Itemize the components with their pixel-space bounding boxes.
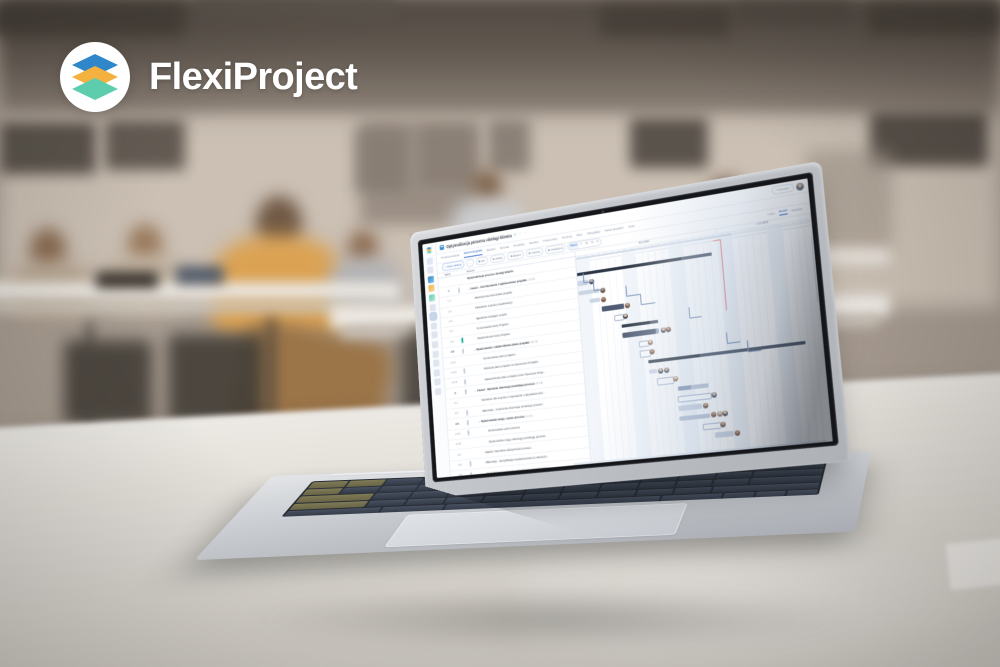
wbs-cell: 1.6.2 xyxy=(444,370,463,375)
status-badge[interactable] xyxy=(463,368,465,374)
wbs-cell: 1.5 xyxy=(442,339,461,345)
assignee-avatar[interactable] xyxy=(666,327,671,333)
app-sidebar xyxy=(422,242,451,478)
ceiling-panel xyxy=(600,6,730,36)
task-progress-count: (1 z 2) xyxy=(526,415,533,419)
filter-button[interactable]: Filtr xyxy=(475,257,488,266)
wbs-cell xyxy=(439,280,458,283)
tab-zasoby[interactable]: Zasoby xyxy=(529,239,539,246)
sidebar-item-favorites[interactable] xyxy=(434,369,440,377)
status-cell[interactable] xyxy=(469,453,477,454)
wbs-cell: 2.3.1 xyxy=(448,432,468,437)
help-button[interactable]: ? Pomoc xyxy=(772,183,794,194)
sidebar-item-team[interactable] xyxy=(434,378,440,386)
assignee-avatar[interactable] xyxy=(723,411,729,417)
gantt-bar[interactable] xyxy=(589,298,600,304)
view-kanban[interactable]: Kanban xyxy=(791,206,803,213)
assignee-avatar[interactable] xyxy=(711,392,717,398)
status-cell[interactable] xyxy=(460,309,468,310)
wbs-cell: 2.4 xyxy=(449,452,469,457)
gantt-bar[interactable] xyxy=(679,413,710,421)
assignee-avatar[interactable] xyxy=(664,367,669,373)
assignee-avatar[interactable] xyxy=(711,412,717,418)
ceiling-panel xyxy=(868,4,1000,34)
project-icon xyxy=(440,244,445,250)
tab-scoring[interactable]: Scoring xyxy=(562,234,572,241)
assignee-avatar[interactable] xyxy=(734,430,740,436)
wall-panel xyxy=(630,118,708,168)
check-icon[interactable]: ✔ xyxy=(514,232,517,236)
status-cell[interactable] xyxy=(462,348,470,353)
sidebar-item-resources[interactable] xyxy=(431,331,437,339)
sidebar-item-reports[interactable] xyxy=(432,341,438,349)
filter-label: Filtr xyxy=(481,259,485,263)
tab-karta-projektu[interactable]: Karta projektu xyxy=(605,225,624,234)
status-cell[interactable] xyxy=(466,410,474,415)
funnel-icon xyxy=(478,260,480,262)
wbs-cell: 1.6.3 xyxy=(445,380,464,385)
sidebar-project-1[interactable] xyxy=(428,276,434,284)
status-cell[interactable] xyxy=(459,299,467,300)
assignee-avatar[interactable] xyxy=(623,313,628,319)
status-cell[interactable] xyxy=(467,420,475,425)
task-progress-count: (1 z 6) xyxy=(536,382,543,386)
clock-icon xyxy=(529,252,531,255)
task-name: Analizy mierników efektywności procesu xyxy=(485,446,531,455)
status-badge[interactable] xyxy=(467,420,469,426)
tab-ryzyka[interactable]: Ryzyka xyxy=(500,244,509,251)
dependency-link xyxy=(640,291,656,305)
gantt-bar[interactable] xyxy=(678,383,709,391)
new-task-button[interactable]: + Nowe zadanie xyxy=(442,260,465,271)
assignee-avatar[interactable] xyxy=(650,349,655,355)
status-badge[interactable] xyxy=(462,348,464,354)
dependency-link xyxy=(625,283,641,297)
task-name: Spotkanie inicjujące projekt xyxy=(476,312,507,320)
assignee-avatar[interactable] xyxy=(703,403,709,409)
task-grid: WBS Nazwa Optymalizacja procesu obsługi … xyxy=(438,252,592,477)
task-progress-count: (0 z 3) xyxy=(531,340,538,344)
plus-icon: + xyxy=(445,266,447,269)
history-label: Historia xyxy=(532,250,541,254)
gear-icon xyxy=(548,249,550,252)
sidebar-item-settings[interactable] xyxy=(435,388,441,396)
column-header-status xyxy=(457,271,465,272)
gantt-chart: Sty 2025Lut 2025 11121314151617181920212… xyxy=(575,213,833,463)
sidebar-item-filter[interactable] xyxy=(431,322,437,330)
wbs-cell: 2.1 xyxy=(446,401,465,406)
tab-podsumowanie[interactable]: Podsumowanie xyxy=(441,252,460,260)
status-badge[interactable] xyxy=(458,287,460,293)
sidebar-item-home[interactable] xyxy=(427,257,433,265)
assignee-avatar[interactable] xyxy=(660,328,665,334)
sidebar-logo-icon[interactable] xyxy=(425,246,433,256)
status-cell[interactable] xyxy=(458,279,466,280)
help-label: Pomoc xyxy=(779,186,789,192)
gantt-bar[interactable] xyxy=(649,369,658,375)
gantt-bar-progress xyxy=(601,304,624,312)
dependency-link xyxy=(593,279,604,291)
task-name: Opracowanie planu projektu xyxy=(483,352,515,360)
status-cell[interactable] xyxy=(461,330,469,331)
assignee-avatar[interactable] xyxy=(717,412,723,418)
brand-logo: FlexiProject xyxy=(60,42,357,112)
sidebar-project-3[interactable] xyxy=(429,294,435,302)
bell-icon[interactable]: ◌ xyxy=(767,189,770,194)
gantt-canvas xyxy=(576,223,833,463)
status-cell[interactable] xyxy=(467,430,475,435)
wbs-cell: 1.6 xyxy=(443,350,462,356)
assignee-avatar[interactable] xyxy=(658,368,663,374)
desk-object xyxy=(176,266,224,284)
tab-przeglądy[interactable]: Przeglądy xyxy=(587,229,601,237)
wbs-cell: 2.5 xyxy=(450,463,470,468)
tab-czat[interactable]: Czat xyxy=(628,223,635,230)
avatar[interactable] xyxy=(796,182,804,191)
sidebar-item-library[interactable] xyxy=(433,359,439,367)
question-mark-icon: ? xyxy=(776,188,778,193)
task-name: Opracowanie Karty Projektu xyxy=(477,322,509,330)
gantt-bar[interactable] xyxy=(601,304,624,312)
wall-panel xyxy=(488,120,530,172)
tab-plan[interactable]: Plan xyxy=(576,232,582,239)
brand-name: FlexiProject xyxy=(149,56,357,99)
assignee-avatar[interactable] xyxy=(625,303,630,309)
download-icon xyxy=(510,255,512,257)
gantt-bar[interactable] xyxy=(714,431,733,438)
dependency-link xyxy=(747,338,761,352)
new-task-dropdown[interactable]: ⌄ xyxy=(466,259,474,267)
export-label: Eksport xyxy=(513,253,521,257)
status-cell[interactable] xyxy=(463,360,471,361)
tab-produkty[interactable]: Produkty xyxy=(513,242,524,249)
paper-sheet xyxy=(946,536,1000,590)
dependency-link xyxy=(688,305,702,318)
gantt-bar[interactable] xyxy=(678,404,702,411)
views-label: Widoki xyxy=(495,256,502,260)
status-badge[interactable] xyxy=(469,461,471,467)
status-cell[interactable] xyxy=(465,389,473,394)
status-cell[interactable] xyxy=(468,443,476,444)
status-cell[interactable] xyxy=(464,379,472,384)
wbs-cell: 1.3 xyxy=(441,319,460,325)
wbs-cell: 2.3 xyxy=(448,421,468,426)
task-rows: Optymalizacja procesu obsługi klienta1⌄F… xyxy=(438,257,591,477)
wbs-cell: 2.6 xyxy=(451,473,471,477)
more-horizontal-icon[interactable]: ⋯ xyxy=(524,231,527,235)
new-task-label: Nowe zadanie xyxy=(447,263,462,268)
status-cell[interactable] xyxy=(466,401,474,402)
wbs-cell: 1.1 xyxy=(440,299,459,305)
assignee-avatar[interactable] xyxy=(721,421,727,427)
flexiproject-app: Optymalizacja procesu obsługi klienta ✔ … xyxy=(422,178,833,478)
view-gantt[interactable]: Gantt xyxy=(779,208,788,216)
assignee-avatar[interactable] xyxy=(673,376,678,382)
stacked-layers-icon xyxy=(60,42,130,112)
wbs-cell: 2.2 xyxy=(447,411,466,416)
chevron-down-icon: ⌄ xyxy=(469,261,471,265)
sidebar-project-2[interactable] xyxy=(428,285,434,293)
wbs-cell: 2 xyxy=(446,390,465,395)
chair xyxy=(64,340,152,424)
task-name: Opracowanie opisu procesu xyxy=(488,426,520,433)
status-badge[interactable] xyxy=(466,409,468,415)
status-badge[interactable] xyxy=(461,338,463,344)
status-badge[interactable] xyxy=(467,430,469,436)
wbs-cell: 1.6.1 xyxy=(444,360,463,365)
ceiling-panel xyxy=(195,0,395,22)
desk-object xyxy=(96,272,158,288)
status-cell[interactable] xyxy=(461,338,469,343)
status-cell[interactable] xyxy=(470,472,478,477)
status-cell[interactable] xyxy=(470,462,478,467)
zoom-level-day[interactable]: Dzień xyxy=(569,243,580,250)
laptop: Optymalizacja procesu obsługi klienta ✔ … xyxy=(236,224,876,644)
ceiling-panel xyxy=(0,2,185,36)
sidebar-item-schedule[interactable] xyxy=(430,313,436,321)
star-icon[interactable]: ☆ xyxy=(519,232,522,236)
column-header-wbs: WBS xyxy=(438,271,457,278)
wbs-cell: 1.4 xyxy=(442,329,461,335)
wbs-cell: 2.3.2 xyxy=(449,442,469,447)
app-main: Optymalizacja procesu obsługi klienta ✔ … xyxy=(436,178,833,476)
assignee-avatar[interactable] xyxy=(648,339,653,345)
task-progress-count: (1 z 6) xyxy=(528,277,535,281)
view-lista[interactable]: Lista xyxy=(768,211,775,218)
dependency-link xyxy=(726,330,740,344)
settings-label: Ustawienia xyxy=(551,246,563,251)
status-cell[interactable] xyxy=(460,319,468,320)
tab-budżet[interactable]: Budżet xyxy=(487,246,496,253)
zoom-option-k[interactable]: K xyxy=(595,239,601,245)
screen: Optymalizacja procesu obsługi klienta ✔ … xyxy=(422,178,833,478)
task-name: Identyfikacja wstępnych pomysłów na uspr… xyxy=(486,465,550,475)
assignee-avatar[interactable] xyxy=(601,297,606,303)
columns-icon xyxy=(492,258,494,260)
tab-czas-pracy[interactable]: Czas pracy xyxy=(543,236,558,244)
task-name: Zatwierdzenie Karty Projektu xyxy=(477,332,510,340)
status-badge[interactable] xyxy=(465,389,467,395)
status-cell[interactable] xyxy=(463,368,471,373)
wbs-cell: 1 xyxy=(439,289,458,295)
gantt-bar-progress xyxy=(622,321,650,328)
wall-panel xyxy=(0,122,96,174)
status-cell[interactable] xyxy=(458,287,466,292)
sidebar-item-documents[interactable] xyxy=(432,350,438,358)
status-badge[interactable] xyxy=(470,472,472,477)
sidebar-item-portfolio[interactable] xyxy=(429,303,435,311)
ceiling-panel xyxy=(735,0,850,26)
wall-panel xyxy=(105,120,185,170)
wbs-cell: 1.2 xyxy=(440,309,459,315)
sidebar-item-dashboard[interactable] xyxy=(427,266,433,274)
gantt-bar-progress xyxy=(678,385,692,391)
status-badge[interactable] xyxy=(464,378,466,384)
